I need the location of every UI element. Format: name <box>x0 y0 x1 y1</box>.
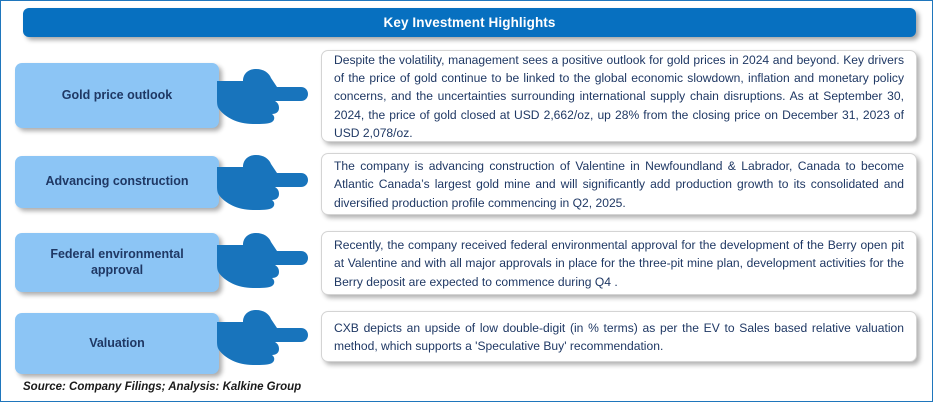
page-title: Key Investment Highlights <box>383 15 555 30</box>
highlight-label-valuation[interactable]: Valuation <box>15 313 219 374</box>
pointing-hand-right-icon <box>217 229 309 291</box>
highlight-content-text: CXB depicts an upside of low double-digi… <box>334 319 904 356</box>
highlight-label-gold-price-outlook[interactable]: Gold price outlook <box>15 63 219 128</box>
highlight-label-federal-environmental-approval[interactable]: Federal environmental approval <box>15 233 219 292</box>
highlight-label-text: Gold price outlook <box>62 88 172 104</box>
highlight-label-text: Federal environmental approval <box>25 247 209 278</box>
highlight-content-gold-price-outlook: Despite the volatility, management sees … <box>321 50 917 142</box>
highlight-label-text: Valuation <box>89 336 145 352</box>
pointing-hand-right-icon <box>217 65 309 127</box>
highlight-content-text: The company is advancing construction of… <box>334 157 904 212</box>
key-investment-highlights-figure: Key Investment Highlights Gold price out… <box>0 0 933 402</box>
highlight-content-advancing-construction: The company is advancing construction of… <box>321 153 917 215</box>
source-note: Source: Company Filings; Analysis: Kalki… <box>23 381 301 393</box>
highlight-content-text: Recently, the company received federal e… <box>334 236 904 291</box>
pointing-hand-right-icon <box>217 306 309 368</box>
highlight-content-federal-environmental-approval: Recently, the company received federal e… <box>321 231 917 295</box>
highlight-content-valuation: CXB depicts an upside of low double-digi… <box>321 311 917 362</box>
highlight-content-text: Despite the volatility, management sees … <box>334 51 904 143</box>
highlight-label-text: Advancing construction <box>45 174 188 190</box>
pointing-hand-right-icon <box>217 151 309 213</box>
header-bar: Key Investment Highlights <box>23 8 916 37</box>
highlight-label-advancing-construction[interactable]: Advancing construction <box>15 156 219 208</box>
